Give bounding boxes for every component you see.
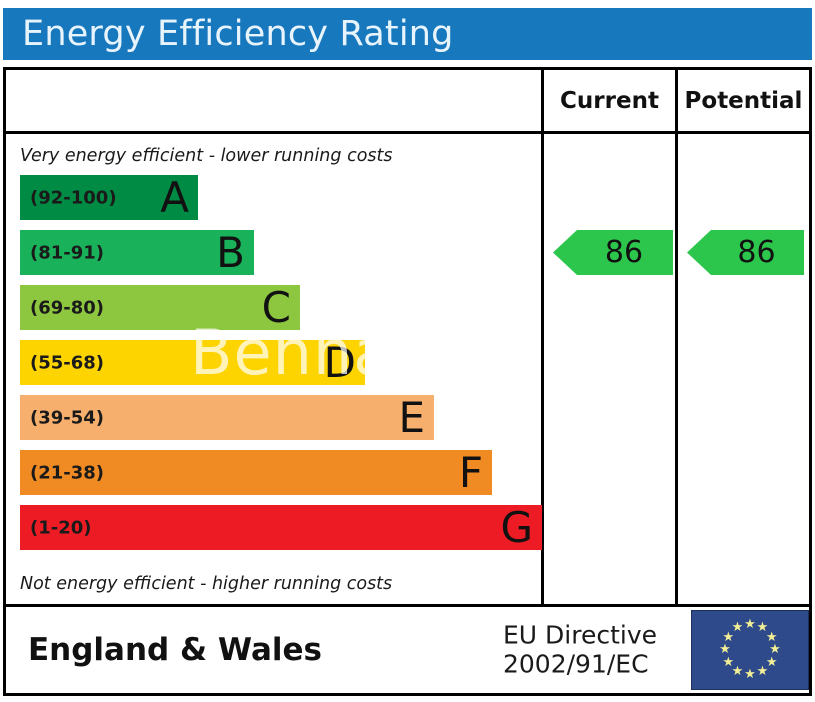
- rating-bar-d: (55-68)D: [20, 340, 365, 385]
- rating-value-potential: 86: [715, 235, 775, 270]
- rating-bar-letter-b: B: [216, 232, 245, 274]
- rating-bar-f: (21-38)F: [20, 450, 492, 495]
- rating-bar-letter-g: G: [500, 507, 533, 549]
- rating-bar-a: (92-100)A: [20, 175, 198, 220]
- rating-bar-range-b: (81-91): [30, 242, 104, 263]
- eu-flag-star-icon: ★: [732, 622, 744, 634]
- page-title: Energy Efficiency Rating: [22, 14, 454, 54]
- rating-bar-letter-f: F: [459, 452, 483, 494]
- rating-bar-range-c: (69-80): [30, 297, 104, 318]
- rating-bar-g: (1-20)G: [20, 505, 542, 550]
- eu-directive-line-1: EU Directive: [503, 621, 657, 650]
- eu-flag-icon: ★★★★★★★★★★★★: [691, 610, 809, 690]
- rating-bar-range-d: (55-68): [30, 352, 104, 373]
- rating-bar-range-f: (21-38): [30, 462, 104, 483]
- rating-value-current: 86: [583, 235, 643, 270]
- rating-bar-range-g: (1-20): [30, 517, 92, 538]
- eu-directive-label: EU Directive 2002/91/EC: [503, 621, 657, 679]
- rating-bar-letter-c: C: [262, 287, 291, 329]
- table-body-row: Very energy efficient - lower running co…: [6, 134, 809, 607]
- energy-efficiency-certificate: Energy Efficiency Rating Current Potenti…: [0, 0, 815, 702]
- rating-bar-e: (39-54)E: [20, 395, 434, 440]
- rating-table: Current Potential Very energy efficient …: [3, 67, 812, 696]
- column-divider-potential: [675, 134, 678, 604]
- rating-bars: (92-100)A(81-91)B(69-80)C(55-68)D(39-54)…: [6, 134, 541, 604]
- table-footer-row: England & Wales EU Directive 2002/91/EC …: [6, 607, 809, 693]
- rating-bar-b: (81-91)B: [20, 230, 254, 275]
- rating-bar-letter-e: E: [398, 397, 425, 439]
- eu-directive-line-2: 2002/91/EC: [503, 650, 657, 679]
- rating-arrow-potential: 86: [687, 230, 804, 275]
- eu-flag-star-icon: ★: [744, 619, 756, 631]
- rating-bar-range-a: (92-100): [30, 187, 117, 208]
- rating-arrow-current: 86: [553, 230, 673, 275]
- eu-flag-star-icon: ★: [719, 644, 731, 656]
- header-cell-blank: [6, 70, 541, 131]
- eu-flag-star-icon: ★: [757, 666, 769, 678]
- rating-bar-letter-a: A: [160, 177, 189, 219]
- chart-title-banner: Energy Efficiency Rating: [3, 8, 812, 60]
- table-header-row: Current Potential: [6, 70, 809, 134]
- region-label: England & Wales: [28, 632, 322, 668]
- header-cell-potential: Potential: [675, 70, 809, 131]
- rating-bar-c: (69-80)C: [20, 285, 300, 330]
- header-cell-current: Current: [541, 70, 675, 131]
- rating-bar-letter-d: D: [324, 342, 356, 384]
- eu-flag-star-icon: ★: [722, 657, 734, 669]
- rating-bar-range-e: (39-54): [30, 407, 104, 428]
- eu-flag-star-icon: ★: [744, 669, 756, 681]
